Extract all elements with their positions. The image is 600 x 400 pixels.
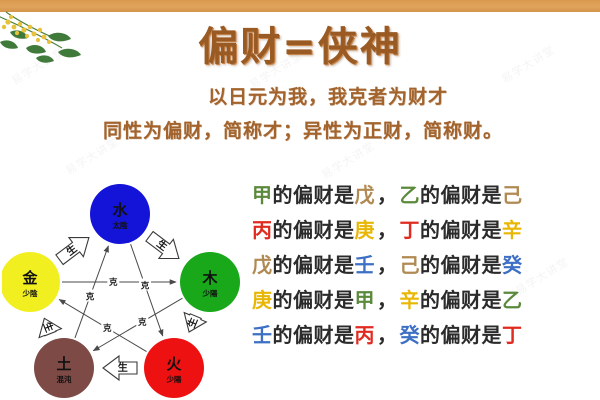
day-stem: 癸 [400,323,421,347]
element-label-water: 水 [112,201,128,219]
separator: ， [375,253,400,277]
subtitle-line-2: 同性为偏财，简称才；异性为正财，简称财。 [0,116,600,143]
relation-connector: 的偏财是 [420,253,502,277]
day-stem: 丙 [252,218,273,242]
element-sublabel-water: 太陰 [113,220,128,230]
target-stem: 己 [502,183,523,207]
overcoming-label: 克 [86,292,95,303]
element-label-earth: 土 [56,355,71,373]
day-stem: 辛 [400,288,421,312]
target-stem: 丙 [355,323,376,347]
relations-list: 甲的偏财是戊，乙的偏财是己 丙的偏财是庚，丁的偏财是辛 戊的偏财是壬，己的偏财是… [252,178,600,353]
relation-connector: 的偏财是 [420,323,502,347]
overcoming-label: 克 [109,277,118,288]
overcoming-label: 克 [103,323,112,334]
element-sublabel-metal: 少陰 [22,288,38,298]
element-label-fire: 火 [166,355,182,373]
day-stem: 己 [400,253,421,277]
relation-row: 丙的偏财是庚，丁的偏财是辛 [252,213,600,248]
target-stem: 辛 [502,218,523,242]
target-stem: 甲 [355,288,376,312]
relation-connector: 的偏财是 [273,218,355,242]
separator: ， [375,323,400,347]
day-stem: 壬 [252,323,273,347]
day-stem: 丁 [400,218,421,242]
separator: ， [375,288,400,312]
relation-connector: 的偏财是 [420,218,502,242]
day-stem: 乙 [400,183,421,207]
target-stem: 乙 [502,288,523,312]
relation-row: 庚的偏财是甲，辛的偏财是乙 [252,283,600,318]
subtitle-line-1: 以日元为我，我克者为财才 [0,82,600,109]
relation-row: 壬的偏财是丙，癸的偏财是丁 [252,318,600,353]
relation-row: 戊的偏财是壬，己的偏财是癸 [252,248,600,283]
relation-connector: 的偏财是 [273,323,355,347]
separator: ， [375,183,400,207]
slide-canvas: 易学大讲堂 易学大讲堂 易学大讲堂 易学大讲堂 易学大讲堂 易学大讲堂 偏财=侠… [0,0,600,400]
target-stem: 丁 [502,323,523,347]
relation-connector: 的偏财是 [420,183,502,207]
element-label-metal: 金 [21,269,38,287]
five-elements-diagram: 克克克克克 生生生生生 水太陰金少陰木少陽土混沌火少陽 [2,172,250,398]
target-stem: 戊 [355,183,376,207]
element-sublabel-wood: 少陽 [202,288,218,298]
day-stem: 庚 [252,288,273,312]
relation-connector: 的偏财是 [273,253,355,277]
day-stem: 戊 [252,253,273,277]
relation-connector: 的偏财是 [273,183,355,207]
separator: ， [375,218,400,242]
relation-connector: 的偏财是 [420,288,502,312]
element-sublabel-fire: 少陽 [166,374,182,384]
overcoming-label: 克 [138,317,147,328]
relation-row: 甲的偏财是戊，乙的偏财是己 [252,178,600,213]
relation-connector: 的偏财是 [273,288,355,312]
target-stem: 庚 [355,218,376,242]
target-stem: 壬 [355,253,376,277]
element-sublabel-earth: 混沌 [57,374,72,384]
target-stem: 癸 [502,253,523,277]
generating-label: 生 [118,361,128,374]
watermark: 易学大讲堂 [318,137,377,182]
overcoming-label: 克 [141,280,150,291]
element-label-wood: 木 [201,269,218,287]
day-stem: 甲 [252,183,273,207]
page-title: 偏财=侠神 [0,14,600,72]
